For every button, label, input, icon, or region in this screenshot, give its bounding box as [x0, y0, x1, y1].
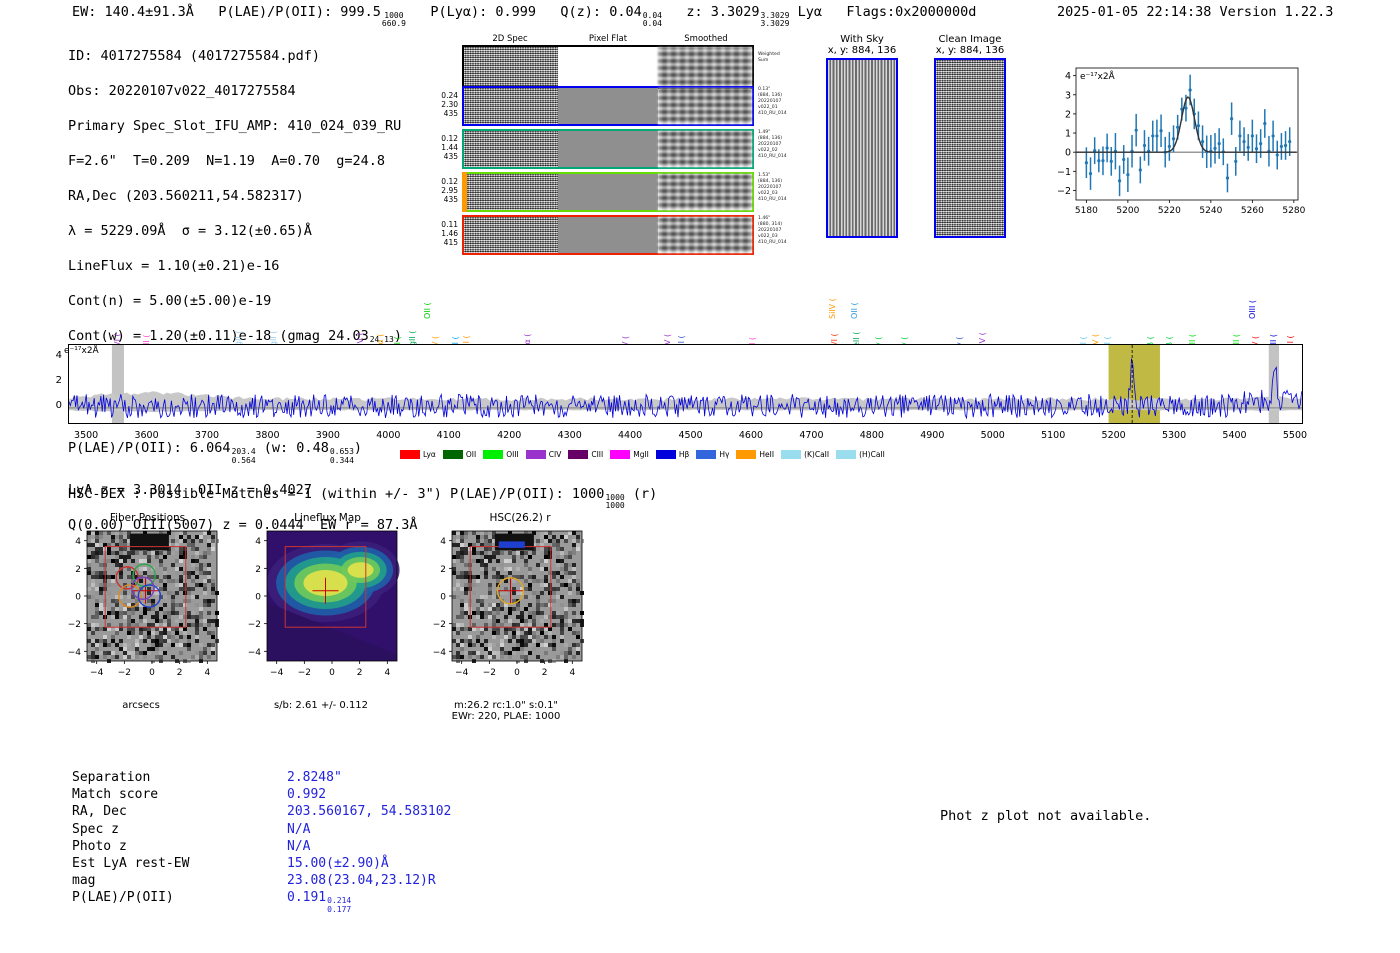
weighted-sum-row	[462, 45, 754, 89]
timestamp-version: 2025-01-05 22:14:38 Version 1.22.3	[1057, 4, 1333, 20]
svg-text:4: 4	[384, 668, 390, 678]
hscdex-header-text: HSC-DEX : Possible Matches = 1 (within +…	[68, 486, 604, 502]
cutout-with-sky-sub: x, y: 884, 136	[826, 45, 898, 56]
svg-text:−4: −4	[90, 668, 104, 678]
spectrum-xtick: 4900	[920, 430, 944, 441]
svg-text:3: 3	[1065, 90, 1071, 101]
legend-label: CIII	[591, 450, 603, 459]
cutout-clean-title: Clean Image	[934, 34, 1006, 45]
svg-text:5180: 5180	[1075, 206, 1098, 216]
svg-text:5260: 5260	[1241, 206, 1264, 216]
spectrum-ytick: 2	[56, 375, 62, 386]
match-value: 0.1910.2140.177	[287, 889, 451, 913]
svg-text:2: 2	[1065, 109, 1071, 120]
legend-label: (K)CaII	[804, 450, 829, 459]
info-line-lambda: λ = 5229.09Å σ = 3.12(±0.65)Å	[68, 223, 418, 241]
svg-text:0: 0	[149, 668, 155, 678]
legend-item: HeII	[736, 450, 774, 459]
fiber-row-3-leftlabel: 0.12 2.95 435	[424, 177, 458, 205]
spectrum-xtick: 3600	[134, 430, 158, 441]
svg-text:4: 4	[440, 537, 446, 547]
svg-text:−4: −4	[455, 668, 469, 678]
legend-swatch	[736, 450, 756, 459]
match-plae-range: 0.2140.177	[327, 897, 351, 913]
emission-label-oiii: OIII (	[1248, 300, 1257, 319]
legend-item: Hγ	[696, 450, 729, 459]
header-plya: P(Lyα): 0.999	[430, 4, 536, 20]
svg-text:0: 0	[440, 593, 446, 603]
svg-text:−4: −4	[270, 668, 284, 678]
panel-canvas: −4−4−2−2002244	[235, 527, 407, 695]
svg-text:0: 0	[514, 668, 520, 678]
weighted-sum-label: Weighted Sum	[758, 52, 780, 64]
panel-hsc-image: HSC(26.2) r−4−4−2−2002244m:26.2 rc:1.0" …	[420, 512, 620, 717]
fiber-row-4	[462, 215, 754, 255]
match-value: N/A	[287, 821, 451, 838]
spectrum-xtick: 4000	[376, 430, 400, 441]
match-value: N/A	[287, 838, 451, 855]
svg-text:2: 2	[255, 565, 261, 575]
fiber-row-1	[462, 86, 754, 126]
hscdex-header: HSC-DEX : Possible Matches = 1 (within +…	[68, 486, 657, 510]
spectrum-xtick: 4200	[497, 430, 521, 441]
panel-xlabel: arcsecs	[55, 700, 227, 711]
spectrum-xtick: 5200	[1102, 430, 1126, 441]
line-fit-plot: −2−101234518052005220524052605280e⁻¹⁷x2Å	[1036, 58, 1306, 226]
svg-text:−4: −4	[248, 648, 262, 658]
info-line-params: F=2.6" T=0.209 N=1.19 A=0.70 g=24.8	[68, 153, 418, 171]
cutout-clean-image-canvas	[934, 58, 1006, 238]
svg-text:0: 0	[75, 593, 81, 603]
panel-canvas: −4−4−2−2002244	[55, 527, 227, 695]
fiber-row-2-rightlabel: 1.49" (884, 136) 20220107 v022_02 410_RU…	[758, 130, 787, 160]
match-label: Match score	[72, 786, 189, 803]
svg-text:4: 4	[255, 537, 261, 547]
full-spectrum-svg	[69, 345, 1302, 423]
svg-text:2: 2	[542, 668, 548, 678]
match-detail-labels: SeparationMatch scoreRA, DecSpec zPhoto …	[72, 769, 189, 907]
legend-swatch	[781, 450, 801, 459]
svg-text:1: 1	[1065, 129, 1071, 140]
spectrum-ytick: 4	[56, 350, 62, 361]
legend-swatch	[526, 450, 546, 459]
legend-swatch	[443, 450, 463, 459]
col-title-smoothed: Smoothed	[658, 34, 754, 44]
legend-item: CIV	[526, 450, 562, 459]
full-spectrum-plot	[68, 344, 1303, 424]
spectrum-xtick: 4300	[558, 430, 582, 441]
panel-title: Fiber Positions	[55, 512, 240, 524]
legend-swatch	[656, 450, 676, 459]
legend-item: Hβ	[656, 450, 689, 459]
svg-text:4: 4	[569, 668, 575, 678]
svg-text:0: 0	[255, 593, 261, 603]
header-qz-range: 0.040.04	[643, 12, 662, 28]
legend-label: MgII	[633, 450, 649, 459]
spectrum-xtick: 3700	[195, 430, 219, 441]
legend-label: OII	[466, 450, 476, 459]
match-value: 23.08(23.04,23.12)R	[287, 872, 451, 889]
svg-text:−2: −2	[118, 668, 131, 678]
fiber-row-3-accent	[462, 172, 467, 212]
panel-canvas: −4−4−2−2002244	[420, 527, 592, 695]
spectrum-xtick: 5500	[1283, 430, 1307, 441]
legend-item: (H)CaII	[836, 450, 885, 459]
spectrum-xtick: 5400	[1222, 430, 1246, 441]
spectrum-flux-annotation: e⁻¹⁷x2Å	[64, 346, 99, 356]
legend-swatch	[483, 450, 503, 459]
cutout-with-sky: With Sky x, y: 884, 136	[826, 34, 898, 238]
svg-text:0: 0	[1065, 148, 1071, 159]
match-value: 203.560167, 54.583102	[287, 803, 451, 820]
svg-text:2: 2	[75, 565, 81, 575]
emission-label-siiv: SiIV (	[828, 298, 837, 319]
panel-xlabel: m:26.2 rc:1.0" s:0.1"	[420, 700, 592, 711]
photoz-note: Phot z plot not available.	[940, 808, 1151, 824]
spectrum-ytick: 0	[56, 400, 62, 411]
svg-text:−2: −2	[1057, 186, 1071, 197]
svg-text:−4: −4	[68, 648, 82, 658]
legend-label: HeII	[759, 450, 774, 459]
svg-text:5220: 5220	[1158, 206, 1181, 216]
legend-swatch	[836, 450, 856, 459]
info-line-id: ID: 4017275584 (4017275584.pdf)	[68, 48, 418, 66]
emission-label-oii: OII (	[850, 302, 859, 319]
legend-swatch	[696, 450, 716, 459]
fiber-row-3	[462, 172, 754, 212]
spectrum-xtick: 4700	[799, 430, 823, 441]
match-label: Separation	[72, 769, 189, 786]
spectrum-xtick: 3800	[255, 430, 279, 441]
legend-swatch	[568, 450, 588, 459]
match-value: 15.00(±2.90)Å	[287, 855, 451, 872]
svg-text:−2: −2	[483, 668, 496, 678]
fiber-row-1-leftlabel: 0.24 2.30 435	[424, 91, 458, 119]
fiber-row-4-rightlabel: 1.46" (880, 314) 20220107 v022_03 410_RU…	[758, 216, 787, 246]
panel-xlabel: s/b: 2.61 +/- 0.112	[235, 700, 407, 711]
match-label: Photo z	[72, 838, 189, 855]
col-title-pixelflat: Pixel Flat	[558, 34, 658, 44]
col-title-2dspec: 2D Spec	[462, 34, 558, 44]
fiber-row-2-leftlabel: 0.12 1.44 435	[424, 134, 458, 162]
svg-text:−1: −1	[1057, 167, 1071, 178]
match-label: Spec z	[72, 821, 189, 838]
legend-label: Lyα	[423, 450, 436, 459]
fiber-row-3-rightlabel: 1.53" (884, 136) 20220107 v022_03 410_RU…	[758, 173, 787, 203]
legend-label: OIII	[506, 450, 519, 459]
spectrum-xtick: 4100	[437, 430, 461, 441]
svg-text:−2: −2	[68, 620, 81, 630]
header-z: z: 3.3029	[686, 4, 759, 20]
legend-swatch	[610, 450, 630, 459]
fiber-row-1-rightlabel: 0.13" (884, 136) 20220107 v022_01 410_RU…	[758, 87, 787, 117]
panel-lineflux-map: Lineflux Map−4−4−2−2002244s/b: 2.61 +/- …	[235, 512, 420, 702]
header-qz: Q(z): 0.04	[560, 4, 641, 20]
svg-text:4: 4	[75, 537, 81, 547]
cutout-with-sky-title: With Sky	[826, 34, 898, 45]
legend-label: Hβ	[679, 450, 689, 459]
panel-title: HSC(26.2) r	[420, 512, 620, 524]
info-line-radec: RA,Dec (203.560211,54.582317)	[68, 188, 418, 206]
spectrum-x-axis: 3500360037003800390040004100420043004400…	[68, 428, 1303, 444]
spectrum-xtick: 4600	[739, 430, 763, 441]
legend-item: CIII	[568, 450, 603, 459]
cutout-with-sky-image	[826, 58, 898, 238]
spectrum-xtick: 3900	[316, 430, 340, 441]
legend-label: CIV	[549, 450, 562, 459]
spectrum-y-axis: 024e⁻¹⁷x2Å	[40, 344, 66, 424]
info-plae-w-range: 0.6530.344	[330, 448, 354, 464]
svg-text:e⁻¹⁷x2Å: e⁻¹⁷x2Å	[1080, 70, 1116, 82]
spectrum-xtick: 5100	[1041, 430, 1065, 441]
legend-item: MgII	[610, 450, 649, 459]
spectrum-xtick: 3500	[74, 430, 98, 441]
header-z-range: 3.30293.3029	[761, 12, 790, 28]
header-flags: Flags:0x2000000d	[846, 4, 976, 20]
svg-text:4: 4	[1065, 71, 1071, 82]
svg-text:−2: −2	[248, 620, 261, 630]
panel-fiber-positions: Fiber Positions−4−4−2−2002244arcsecs	[55, 512, 240, 702]
svg-text:0: 0	[329, 668, 335, 678]
spectrum-xtick: 4500	[678, 430, 702, 441]
match-detail-values: 2.8248"0.992203.560167, 54.583102N/AN/A1…	[287, 769, 451, 914]
info-plae-range: 203.40.564	[232, 448, 256, 464]
match-label: mag	[72, 872, 189, 889]
spectrum-xtick: 5300	[1162, 430, 1186, 441]
match-value: 0.992	[287, 786, 451, 803]
fiber-row-2	[462, 129, 754, 169]
legend-item: OII	[443, 450, 476, 459]
info-line-slot: Primary Spec_Slot_IFU_AMP: 410_024_039_R…	[68, 118, 418, 136]
match-label: RA, Dec	[72, 803, 189, 820]
legend-swatch	[400, 450, 420, 459]
header-plae-label: P(LAE)/P(OII): 999.5	[218, 4, 381, 20]
match-label: Est LyA rest-EW	[72, 855, 189, 872]
svg-text:2: 2	[177, 668, 183, 678]
svg-text:4: 4	[204, 668, 210, 678]
spectrum-legend: LyαOIIOIIICIVCIIIMgIIHβHγHeII(K)CaII(H)C…	[400, 450, 885, 459]
hscdex-filter: (r)	[633, 486, 657, 502]
emission-label-oii: OII (	[423, 302, 432, 319]
svg-text:2: 2	[440, 565, 446, 575]
cutout-clean-sub: x, y: 884, 136	[934, 45, 1006, 56]
header-plae-range: 1000660.9	[382, 12, 406, 28]
header-ew: EW: 140.4±91.3Å	[72, 4, 194, 20]
spectrum-xtick: 4400	[618, 430, 642, 441]
header-summary-line: EW: 140.4±91.3Å P(LAE)/P(OII): 999.51000…	[72, 4, 976, 28]
hscdex-plae-range: 10001000	[605, 494, 624, 510]
match-value: 2.8248"	[287, 769, 451, 786]
legend-item: OIII	[483, 450, 519, 459]
svg-text:−2: −2	[298, 668, 311, 678]
svg-text:−4: −4	[433, 648, 447, 658]
panel-title: Lineflux Map	[235, 512, 420, 524]
legend-item: (K)CaII	[781, 450, 829, 459]
info-line-obs: Obs: 20220107v022_4017275584	[68, 83, 418, 101]
cutout-clean-image: Clean Image x, y: 884, 136	[934, 34, 1006, 238]
panel-sublabel: EWr: 220, PLAE: 1000	[420, 711, 592, 722]
fiber-row-4-leftlabel: 0.11 1.46 415	[424, 220, 458, 248]
svg-text:5240: 5240	[1199, 206, 1222, 216]
emission-line-labels: OVI (CIII (MgII (MgII (SiIV (Lyα (OII (M…	[68, 270, 1303, 344]
spectrum-xtick: 5000	[981, 430, 1005, 441]
svg-text:5200: 5200	[1116, 206, 1139, 216]
legend-label: Hγ	[719, 450, 729, 459]
line-fit-svg: −2−101234518052005220524052605280e⁻¹⁷x2Å	[1036, 58, 1306, 226]
svg-text:−2: −2	[433, 620, 446, 630]
svg-text:5280: 5280	[1282, 206, 1305, 216]
svg-text:2: 2	[357, 668, 363, 678]
header-z-line: Lyα	[798, 4, 822, 20]
legend-label: (H)CaII	[859, 450, 885, 459]
spectrum-xtick: 4800	[860, 430, 884, 441]
match-label: P(LAE)/P(OII)	[72, 889, 189, 906]
legend-item: Lyα	[400, 450, 436, 459]
